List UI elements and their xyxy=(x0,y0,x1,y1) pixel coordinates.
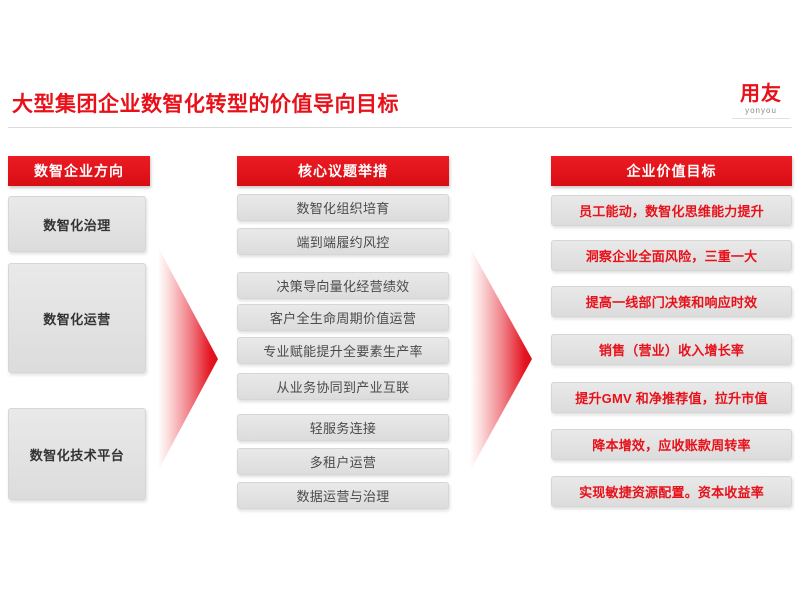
brand-logo: 用友 yonyou xyxy=(730,84,792,119)
direction-item-tech-platform[interactable]: 数智化技术平台 xyxy=(8,408,146,500)
core-topic-item-6[interactable]: 从业务协同到产业互联 xyxy=(237,373,449,400)
core-topic-item-9[interactable]: 数据运营与治理 xyxy=(237,482,449,509)
logo-underline xyxy=(732,118,790,119)
arrow-topics-to-value xyxy=(470,247,532,471)
value-goal-item-3[interactable]: 提高一线部门决策和响应时效 xyxy=(551,286,792,317)
arrow-direction-to-topics xyxy=(158,247,218,471)
value-goal-item-6[interactable]: 降本增效，应收账款周转率 xyxy=(551,429,792,460)
title-divider xyxy=(8,127,792,128)
value-goal-item-5[interactable]: 提升GMV 和净推荐值，拉升市值 xyxy=(551,382,792,413)
slide-canvas: 大型集团企业数智化转型的价值导向目标 用友 yonyou 数智企业方向 核心议题… xyxy=(0,0,800,600)
core-topic-item-5[interactable]: 专业赋能提升全要素生产率 xyxy=(237,337,449,364)
logo-text-en: yonyou xyxy=(730,106,792,115)
core-topic-item-4[interactable]: 客户全生命周期价值运营 xyxy=(237,304,449,331)
column-header-core-topics: 核心议题举措 xyxy=(237,156,449,186)
core-topic-item-1[interactable]: 数智化组织培育 xyxy=(237,194,449,221)
value-goal-item-4[interactable]: 销售（营业）收入增长率 xyxy=(551,334,792,365)
core-topic-item-2[interactable]: 端到端履约风控 xyxy=(237,228,449,255)
value-goal-item-7[interactable]: 实现敏捷资源配置。资本收益率 xyxy=(551,476,792,507)
direction-item-operations[interactable]: 数智化运营 xyxy=(8,263,146,373)
column-header-direction: 数智企业方向 xyxy=(8,156,150,186)
value-goal-item-1[interactable]: 员工能动，数智化思维能力提升 xyxy=(551,195,792,226)
value-goal-item-2[interactable]: 洞察企业全面风险，三重一大 xyxy=(551,240,792,271)
core-topic-item-3[interactable]: 决策导向量化经营绩效 xyxy=(237,272,449,299)
direction-item-governance[interactable]: 数智化治理 xyxy=(8,196,146,252)
logo-text-cn: 用友 xyxy=(730,84,792,105)
core-topic-item-8[interactable]: 多租户运营 xyxy=(237,448,449,475)
page-title: 大型集团企业数智化转型的价值导向目标 xyxy=(12,88,399,118)
column-header-enterprise-value: 企业价值目标 xyxy=(551,156,792,186)
core-topic-item-7[interactable]: 轻服务连接 xyxy=(237,414,449,441)
